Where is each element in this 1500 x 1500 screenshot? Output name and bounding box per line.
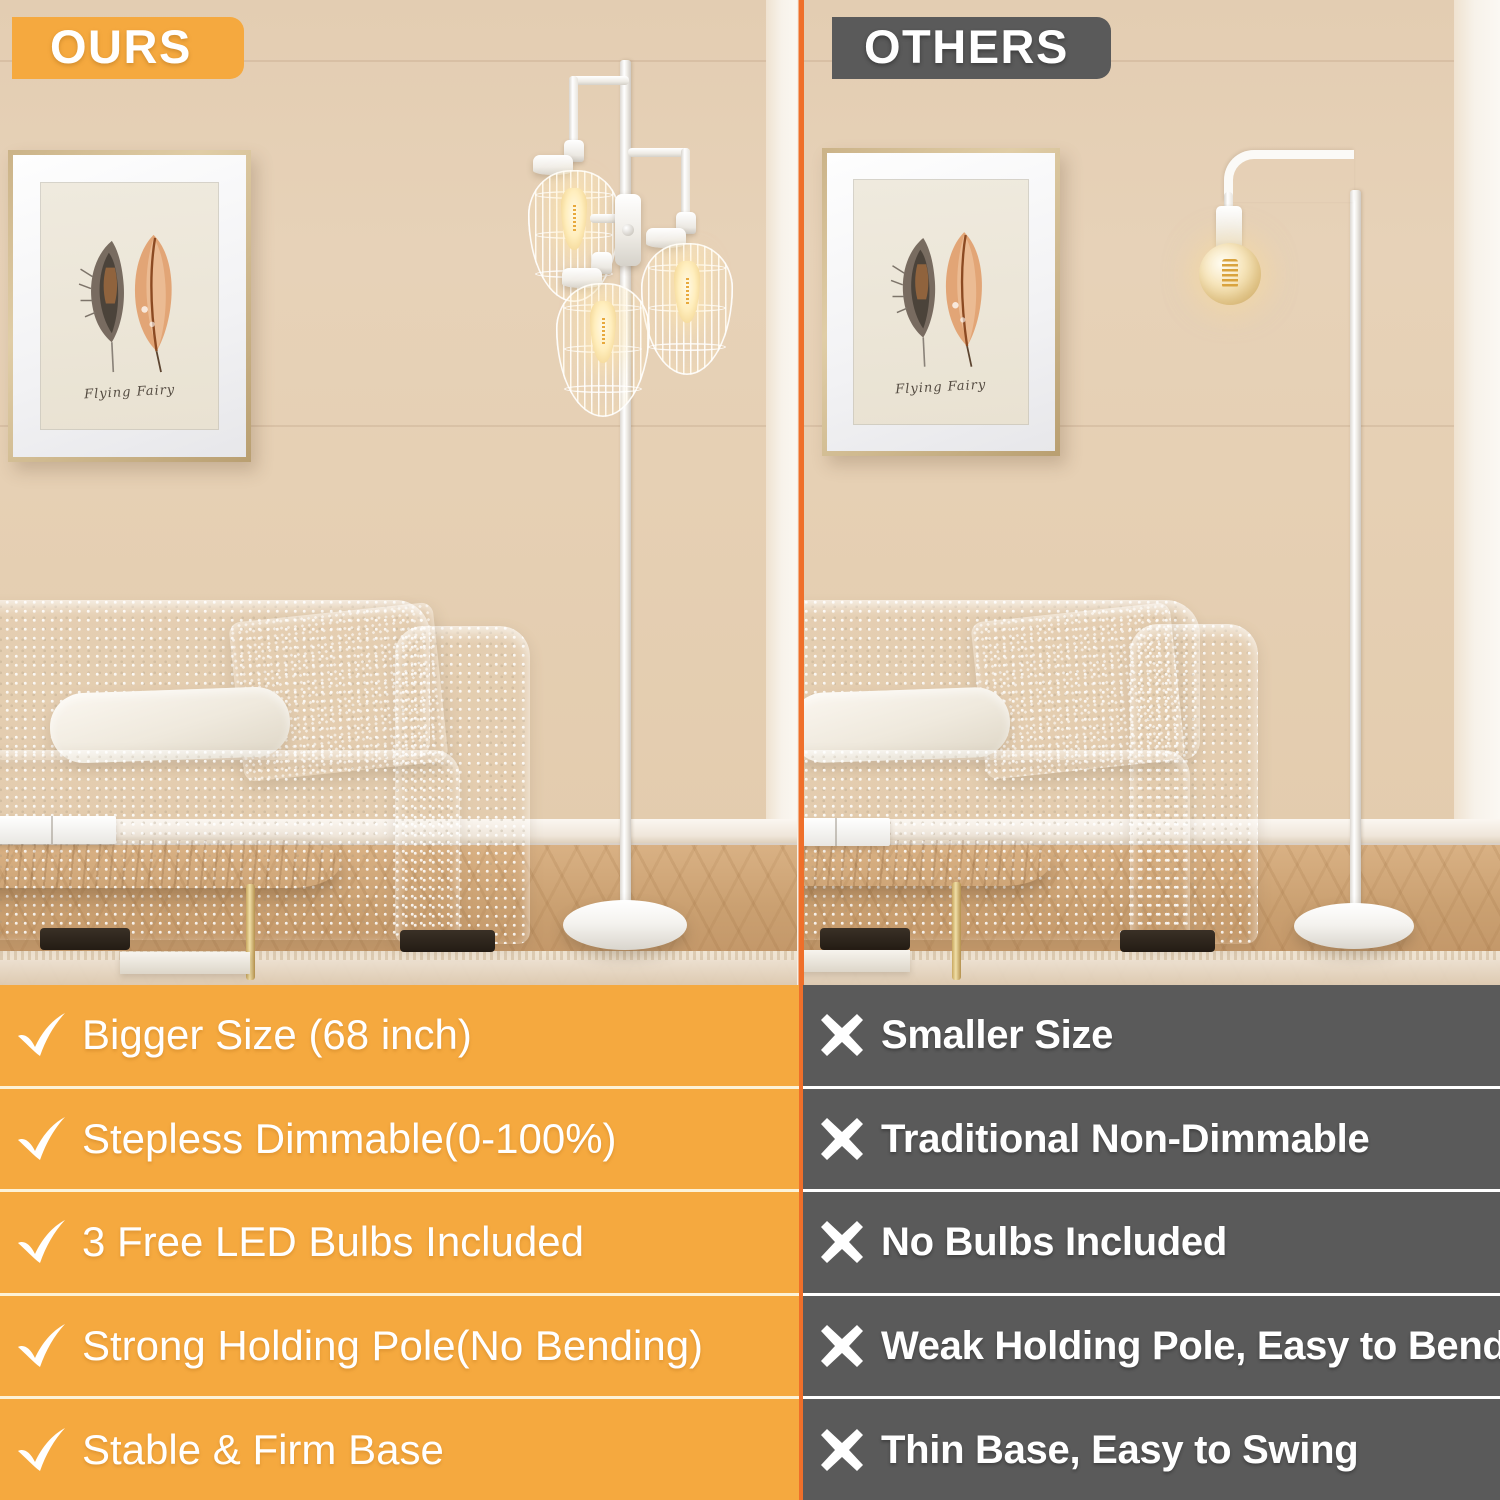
feature-label: Stepless Dimmable(0-100%) (82, 1117, 617, 1161)
table-row: No Bulbs Included (799, 1189, 1500, 1293)
lamp-pole (620, 60, 631, 912)
sofa-foot (40, 928, 130, 950)
floor-paper (120, 952, 250, 974)
table-row: Stable & Firm Base (0, 1396, 799, 1500)
dimmer-knob[interactable] (622, 224, 634, 236)
check-icon (14, 1217, 72, 1267)
lamp-base-disc (563, 900, 687, 950)
feature-label: Smaller Size (881, 1014, 1113, 1056)
check-icon (14, 1425, 72, 1475)
frame-mat: Flying Fairy (13, 155, 246, 457)
table-top (0, 840, 340, 888)
frame-mat: Flying Fairy (827, 153, 1055, 451)
ours-product-photo: Flying Fairy (0, 0, 800, 985)
comparison-infographic: Flying Fairy (0, 0, 1500, 1500)
table-row: Weak Holding Pole, Easy to Bend (799, 1293, 1500, 1397)
artwork-caption: Flying Fairy (40, 381, 220, 405)
wall-corner-return (766, 0, 800, 845)
floor-paper (800, 950, 910, 972)
ours-feature-column: Bigger Size (68 inch) Stepless Dimmable(… (0, 985, 799, 1500)
feature-label: Weak Holding Pole, Easy to Bend (881, 1325, 1500, 1367)
feature-label: Traditional Non-Dimmable (881, 1118, 1369, 1160)
feature-label: Stable & Firm Base (82, 1428, 444, 1472)
open-magazine (0, 816, 116, 844)
check-icon (14, 1321, 72, 1371)
sofa-foot (820, 928, 910, 950)
cage-ring (564, 385, 643, 393)
lamp-drop-rod-middle (681, 148, 690, 220)
feature-label: Bigger Size (68 inch) (82, 1013, 472, 1057)
feather-illustration (853, 214, 1029, 376)
others-feature-column: Smaller Size Traditional Non-Dimmable No… (799, 985, 1500, 1500)
table-row: Thin Base, Easy to Swing (799, 1396, 1500, 1500)
cross-icon (813, 1425, 871, 1475)
frame-artwork: Flying Fairy (40, 182, 219, 430)
lamp-arm-bend (1224, 150, 1354, 202)
check-icon (14, 1114, 72, 1164)
vertical-divider-rows (799, 985, 803, 1500)
feature-label: No Bulbs Included (881, 1221, 1227, 1263)
table-top (800, 840, 1050, 886)
feather-orange (946, 232, 982, 367)
table-row: Stepless Dimmable(0-100%) (0, 1086, 799, 1190)
feature-label: Thin Base, Easy to Swing (881, 1429, 1358, 1471)
others-product-photo: Flying Fairy (800, 0, 1500, 985)
sofa-foot (1120, 930, 1215, 952)
feather-orange (135, 234, 172, 371)
others-badge-label: OTHERS (864, 23, 1069, 70)
feather-dark (79, 240, 124, 371)
frame-artwork: Flying Fairy (853, 179, 1029, 425)
open-magazine (800, 818, 890, 846)
sofa-foot (400, 930, 495, 952)
ours-badge: OURS (12, 17, 244, 79)
framed-feather-artwork-right: Flying Fairy (822, 148, 1060, 456)
cross-icon (813, 1114, 871, 1164)
check-icon (14, 1010, 72, 1060)
feature-label: 3 Free LED Bulbs Included (82, 1220, 584, 1264)
cage-ring (648, 343, 725, 351)
dimmer-switch[interactable] (615, 194, 641, 266)
lamp-arm-upper (569, 76, 629, 85)
cross-icon (813, 1217, 871, 1267)
product-comparison-photos: Flying Fairy (0, 0, 1500, 985)
artwork-caption: Flying Fairy (853, 376, 1029, 400)
table-leg (952, 882, 961, 980)
ours-badge-label: OURS (50, 23, 192, 70)
feather-illustration (40, 217, 219, 381)
table-row: 3 Free LED Bulbs Included (0, 1189, 799, 1293)
vertical-divider-photos (797, 0, 804, 985)
framed-feather-artwork-left: Flying Fairy (8, 150, 251, 462)
cross-icon (813, 1321, 871, 1371)
lamp-drop-rod-upper (569, 76, 578, 148)
feather-dark (891, 238, 935, 367)
wall-corner-return (1454, 0, 1500, 845)
feature-label: Strong Holding Pole(No Bending) (82, 1324, 703, 1368)
table-row: Strong Holding Pole(No Bending) (0, 1293, 799, 1397)
others-badge: OTHERS (832, 17, 1111, 79)
table-row: Bigger Size (68 inch) (0, 985, 799, 1086)
cross-icon (813, 1010, 871, 1060)
table-row: Smaller Size (799, 985, 1500, 1086)
feature-comparison-table: Bigger Size (68 inch) Stepless Dimmable(… (0, 985, 1500, 1500)
table-row: Traditional Non-Dimmable (799, 1086, 1500, 1190)
globe-bulb (1199, 243, 1261, 305)
lamp-base-disc (1294, 903, 1414, 949)
lamp-pole (1350, 190, 1361, 912)
